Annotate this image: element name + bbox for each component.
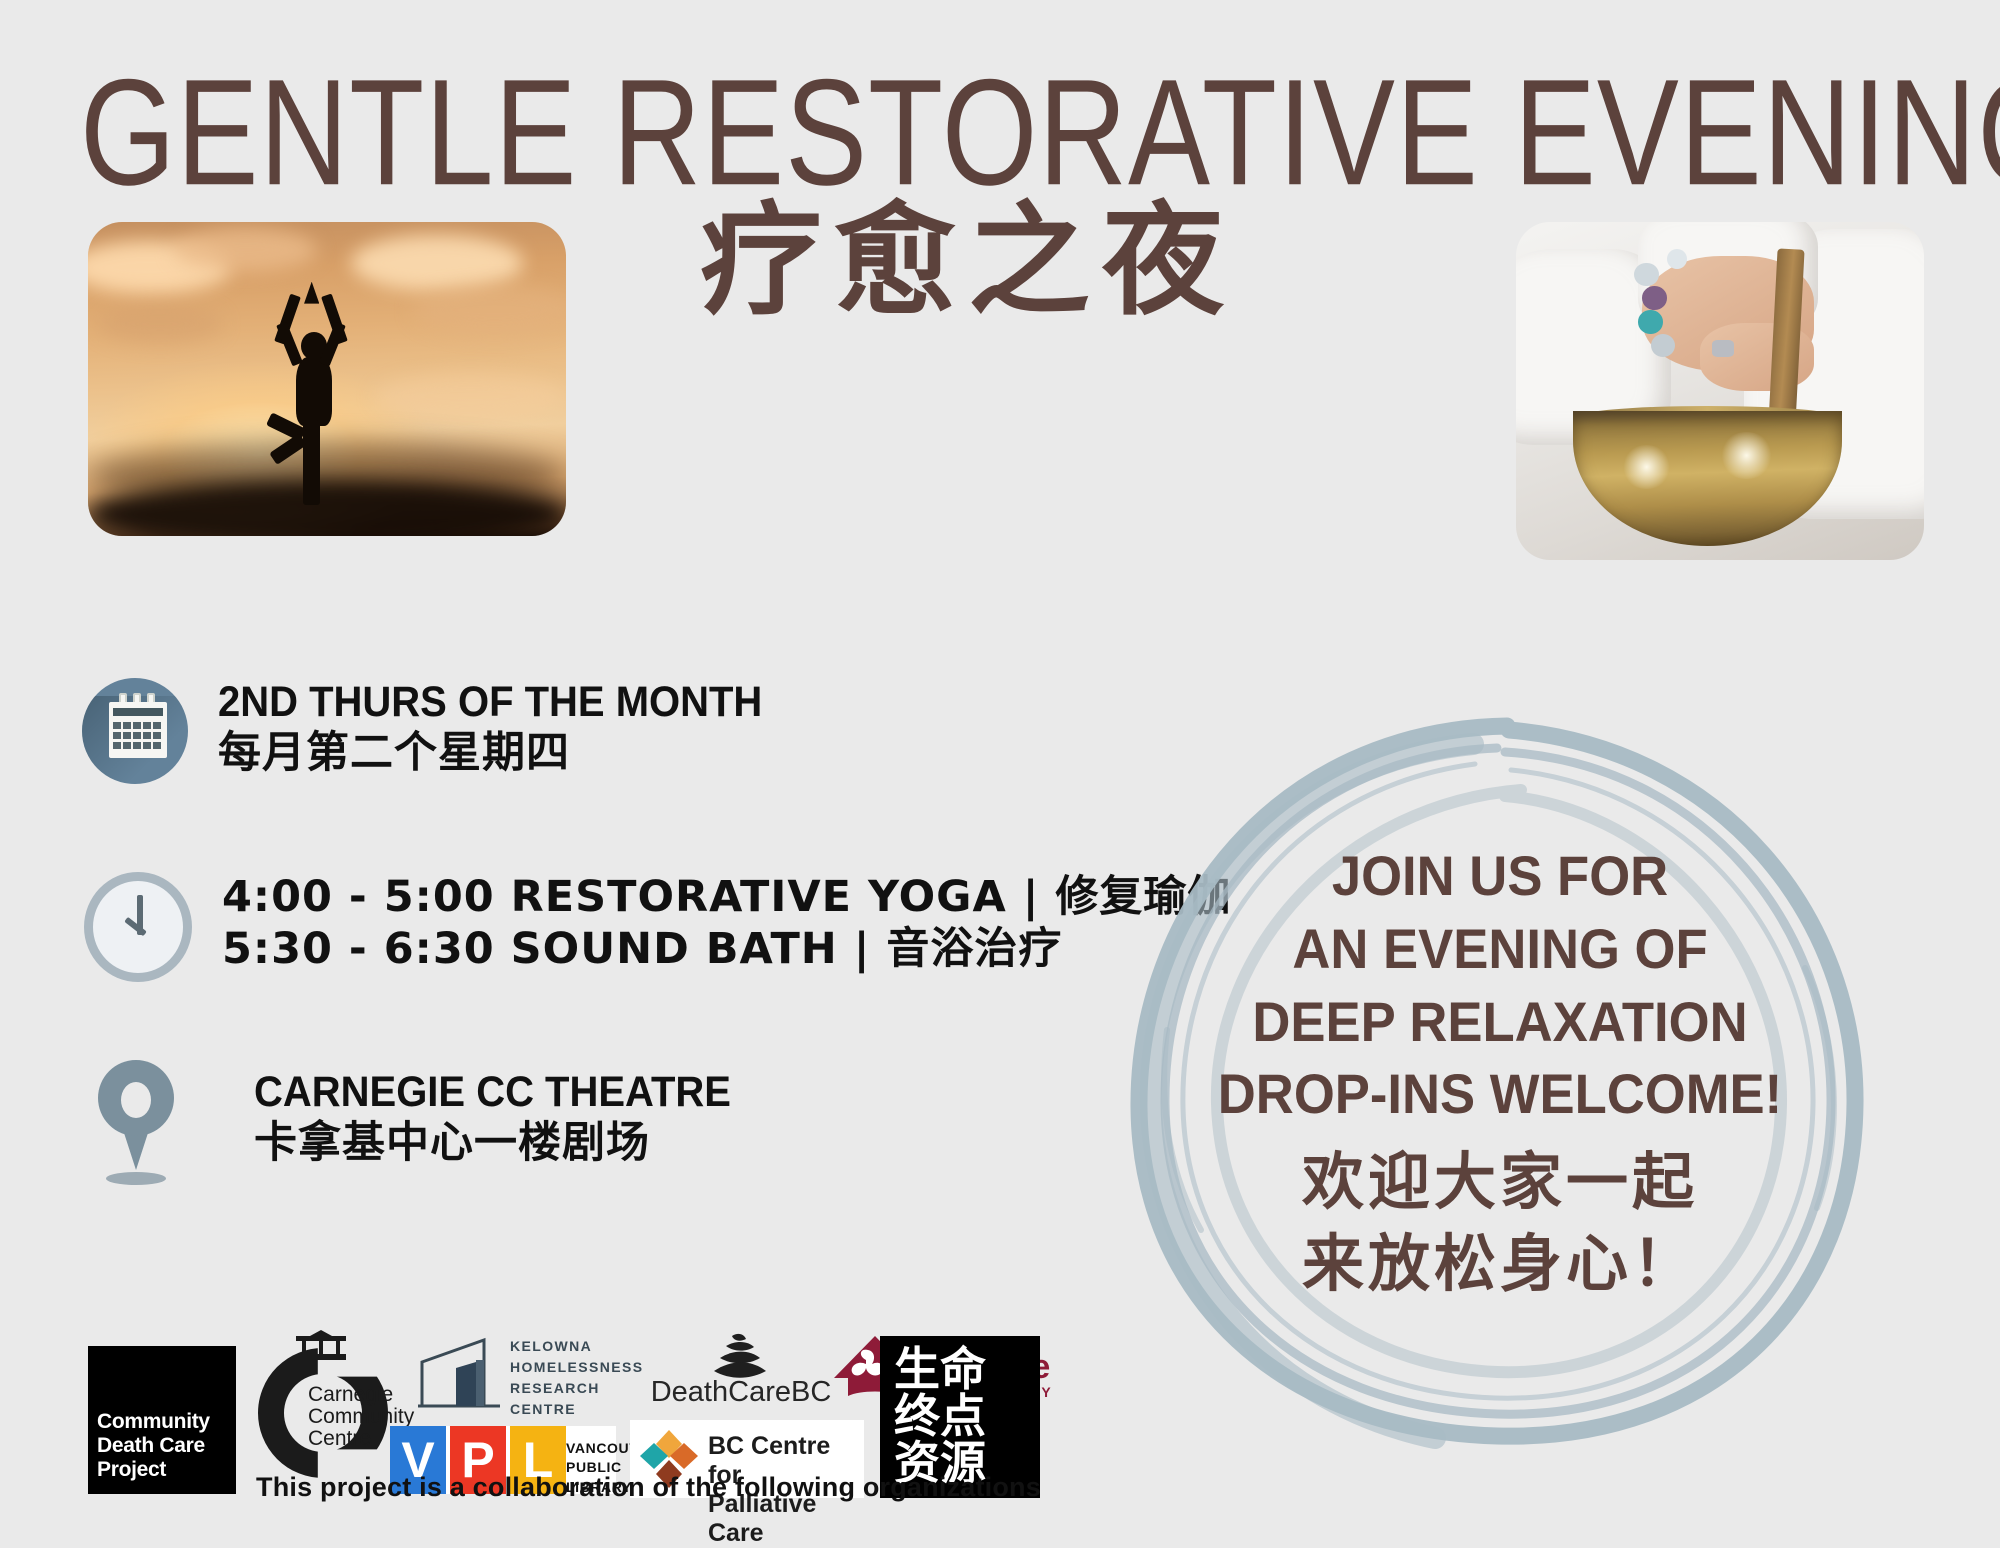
cloud-shape (413, 285, 566, 335)
bowl-highlight (1720, 432, 1773, 479)
page-title-english: GENTLE RESTORATIVE EVENING (80, 58, 1866, 209)
bracelet-bead (1651, 334, 1675, 358)
clock-icon (84, 872, 192, 982)
collaboration-caption: This project is a collaboration of the f… (256, 1472, 1041, 1503)
logo-text: DeathCareBC (650, 1376, 832, 1409)
location-label-chinese: 卡拿基中心一楼剧场 (254, 1118, 767, 1170)
logo-text: 生命终点资源 (894, 1346, 986, 1487)
ground-band (88, 479, 566, 536)
date-text-block: 2ND THURS OF THE MONTH 每月第二个星期四 (218, 678, 803, 779)
logo-community-death-care-project: CommunityDeath CareProject (88, 1346, 236, 1494)
cloud-shape (98, 304, 222, 345)
cloud-shape (375, 373, 566, 420)
page-title-chinese: 疗愈之夜 (700, 200, 1236, 322)
date-label-chinese: 每月第二个星期四 (218, 728, 803, 780)
ring (1712, 340, 1734, 357)
map-pin-icon (84, 1060, 188, 1182)
logo-text: CommunityDeath CareProject (97, 1410, 210, 1482)
bracelet-bead (1634, 263, 1658, 287)
invite-line-3: DEEP RELAXATION (1199, 986, 1801, 1059)
info-row-location: CARNEGIE CC THEATRE 卡拿基中心一楼剧场 (84, 1060, 767, 1182)
date-label-english: 2ND THURS OF THE MONTH (218, 678, 762, 728)
calendar-icon (82, 678, 188, 784)
bowl-highlight (1622, 445, 1671, 489)
location-label-english: CARNEGIE CC THEATRE (254, 1068, 731, 1118)
time-label-line2: 5:30 - 6:30 SOUND BATH | 音浴治疗 (222, 924, 1231, 976)
invite-line-4: DROP-INS WELCOME! (1199, 1058, 1801, 1131)
logo-line-1: Carnegie (308, 1384, 414, 1406)
invite-line-1: JOIN US FOR (1199, 840, 1801, 913)
time-text-block: 4:00 - 5:00 RESTORATIVE YOGA | 修复瑜伽 5:30… (222, 872, 1231, 975)
info-row-time: 4:00 - 5:00 RESTORATIVE YOGA | 修复瑜伽 5:30… (84, 872, 1231, 982)
invite-line-2: AN EVENING OF (1199, 913, 1801, 986)
invite-chinese-1: 欢迎大家一起 (1180, 1141, 1820, 1223)
poster-canvas: GENTLE RESTORATIVE EVENING 疗愈之夜 (0, 0, 2000, 1545)
cloud-shape (351, 235, 523, 292)
logo-kelowna-homelessness-research-centre: KELOWNAHOMELESSNESSRESEARCHCENTRE (418, 1334, 640, 1418)
singing-bowl-photo (1516, 222, 1924, 560)
invite-chinese-2: 来放松身心！ (1180, 1223, 1820, 1305)
yoga-sunset-photo (88, 222, 566, 536)
cloud-shape (174, 228, 317, 272)
invite-text-block: JOIN US FOR AN EVENING OF DEEP RELAXATIO… (1180, 840, 1820, 1305)
time-label-line1: 4:00 - 5:00 RESTORATIVE YOGA | 修复瑜伽 (222, 872, 1231, 924)
logo-line-2: Community (308, 1406, 414, 1428)
bracelet-bead (1638, 310, 1662, 334)
info-row-date: 2ND THURS OF THE MONTH 每月第二个星期四 (82, 678, 803, 784)
location-text-block: CARNEGIE CC THEATRE 卡拿基中心一楼剧场 (254, 1068, 767, 1169)
logo-deathcare-bc: DeathCareBC (650, 1332, 832, 1416)
bracelet-bead (1642, 286, 1666, 310)
